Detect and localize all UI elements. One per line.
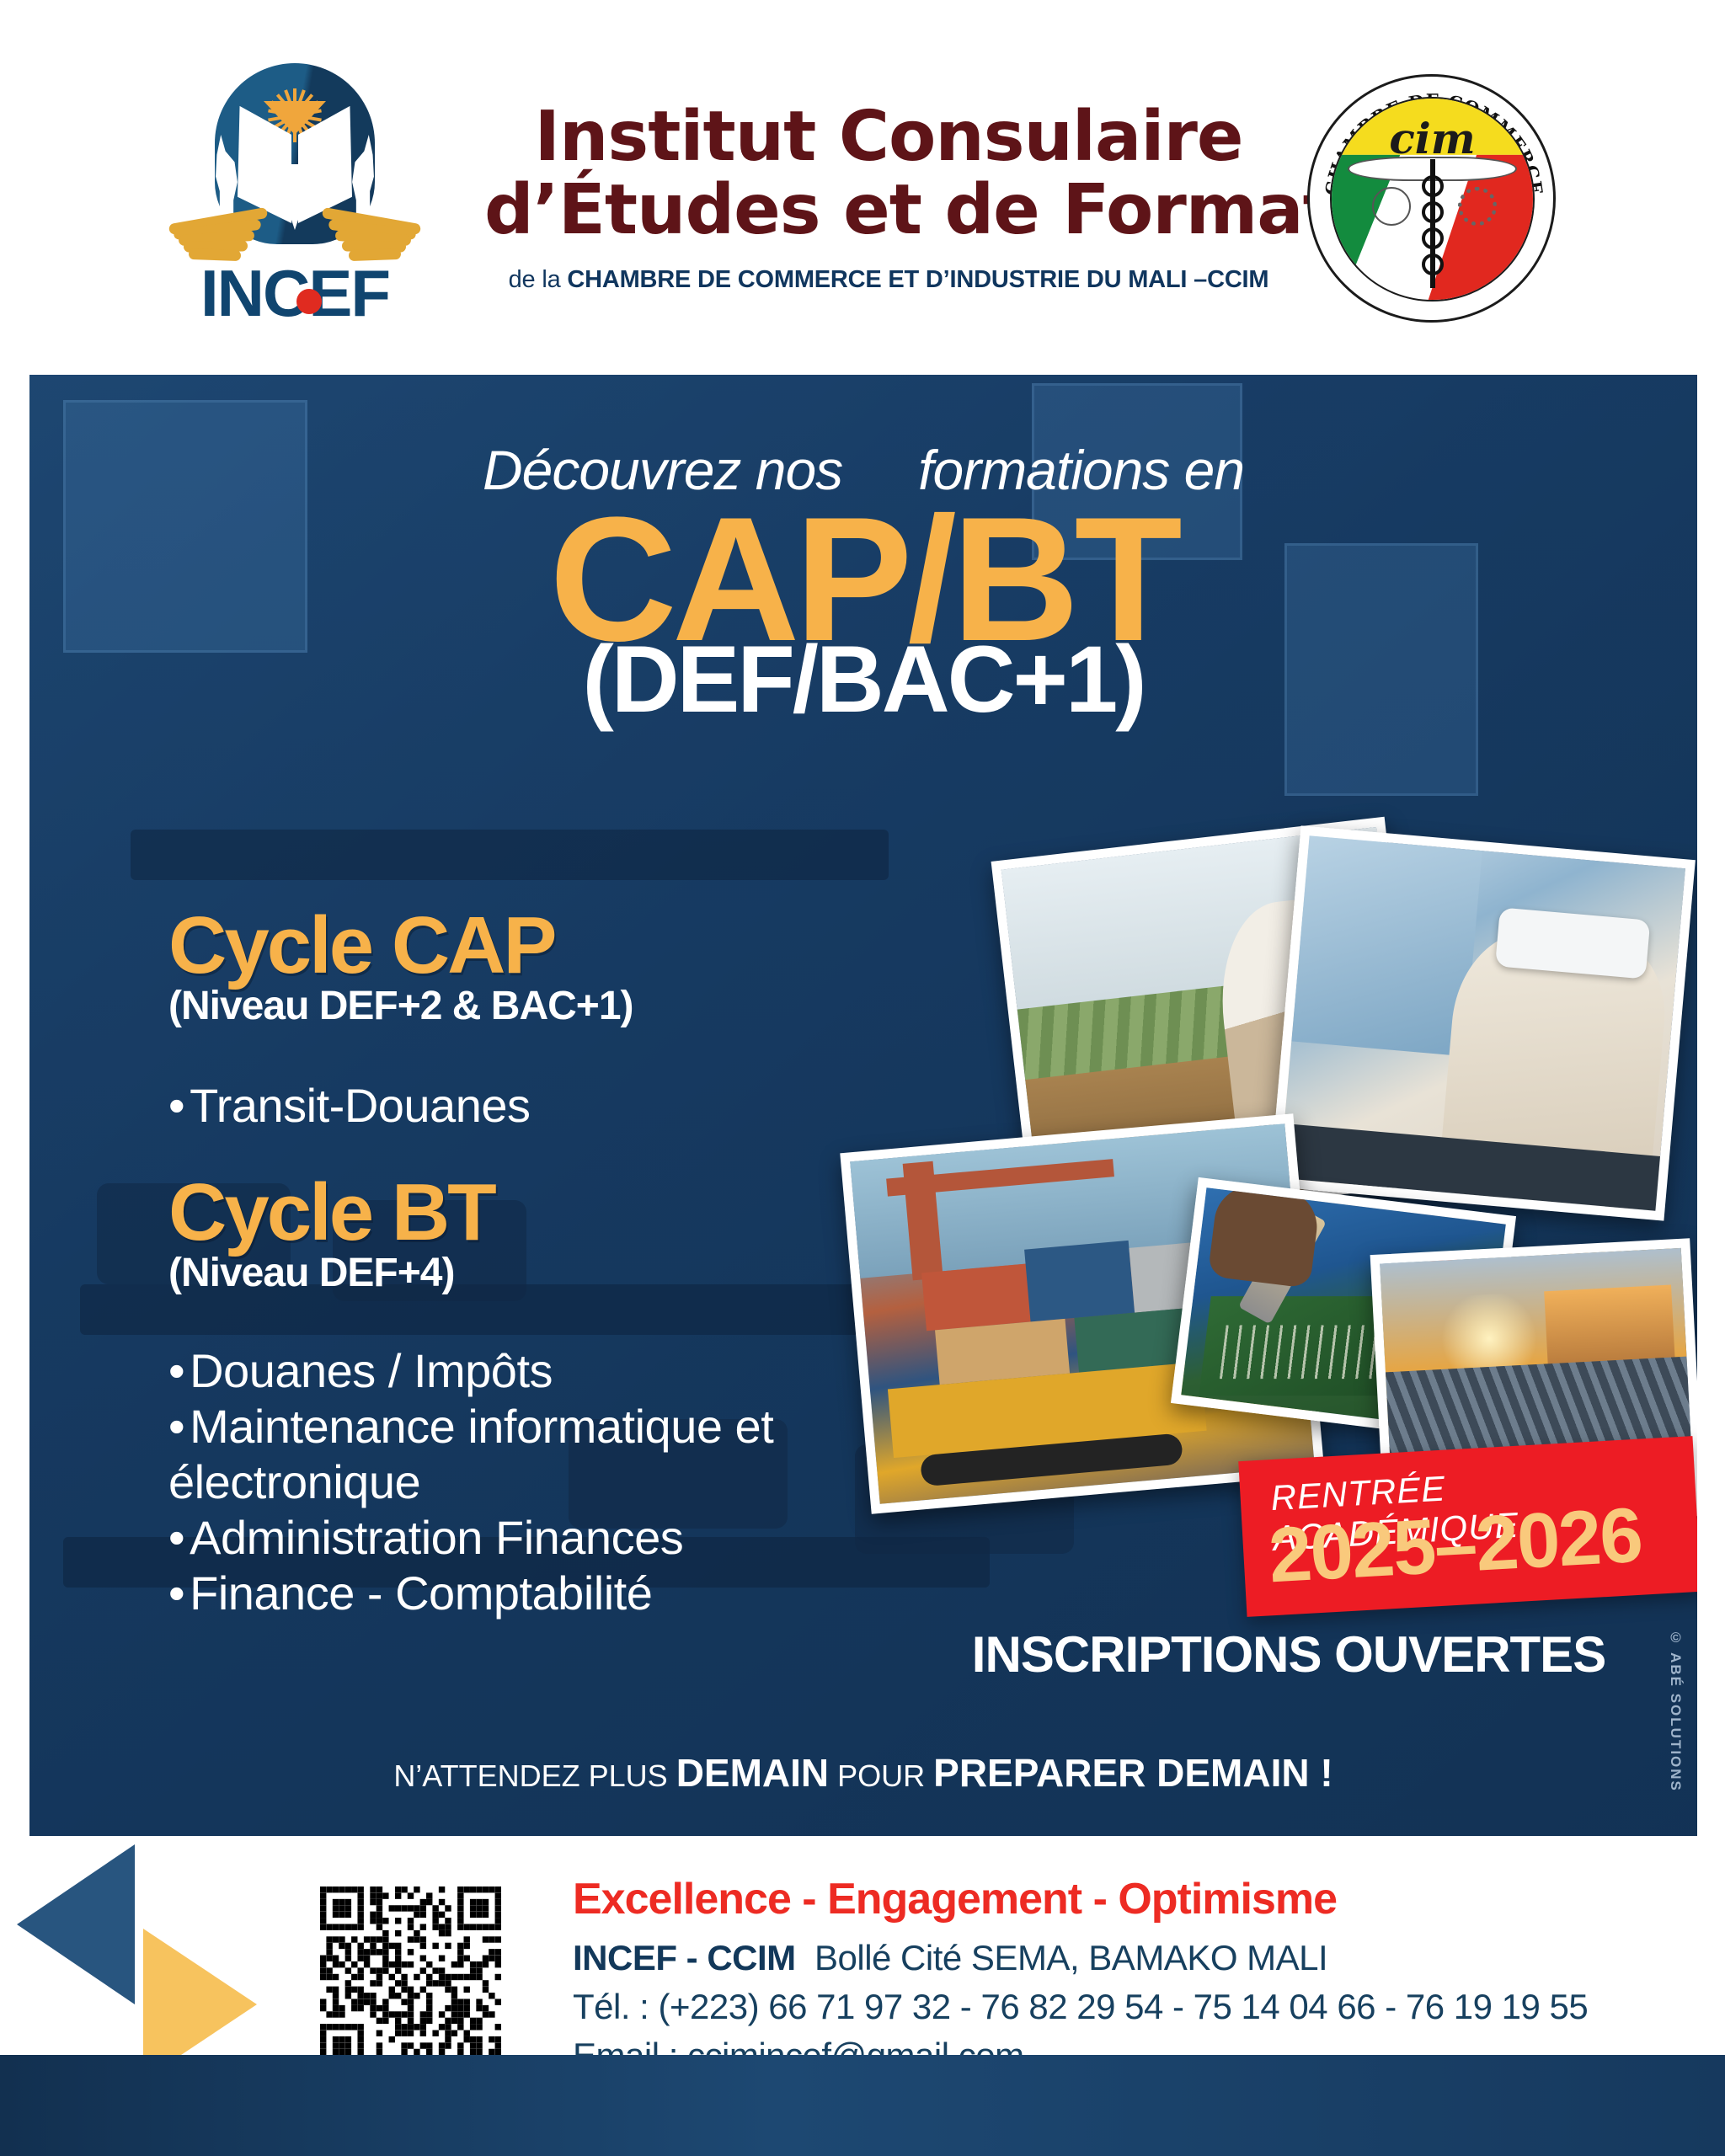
cycle-cap-programs: •Transit-Douanes	[168, 1078, 927, 1134]
subtitle-prefix: de la	[509, 266, 568, 293]
footer-motto: Excellence - Engagement - Optimisme	[573, 1874, 1685, 1924]
qr-code[interactable]	[320, 1886, 501, 2068]
caduceus-bead-4	[1422, 253, 1444, 275]
hero-headline-block: Découvrez nosformations en CAP/BT (DEF/B…	[29, 438, 1697, 734]
cycle-block-bt: Cycle BT (Niveau DEF+4) •Douanes / Impôt…	[168, 1172, 927, 1621]
tagline-part3: POUR	[829, 1758, 933, 1793]
program-item: •Douanes / Impôts	[168, 1343, 927, 1399]
program-label: Finance - Comptabilité	[190, 1566, 652, 1620]
program-item: •Maintenance informatique et électroniqu…	[168, 1399, 927, 1510]
cycle-bt-level: (Niveau DEF+4)	[168, 1250, 927, 1296]
bullet-icon: •	[168, 1566, 184, 1620]
poster-root: INCEF Institut Consulaire d’Études et de…	[0, 0, 1725, 2156]
program-label: Maintenance informatique et électronique	[168, 1400, 773, 1508]
program-label: Douanes / Impôts	[190, 1344, 553, 1397]
subtitle-strong: CHAMBRE DE COMMERCE ET D’INDUSTRIE DU MA…	[567, 266, 1268, 293]
incef-wordmark: INCEF	[168, 255, 421, 332]
program-item: •Transit-Douanes	[168, 1078, 927, 1134]
ccim-seal-inner: cim	[1330, 97, 1535, 302]
hero-tagline: N’ATTENDEZ PLUS DEMAIN POUR PREPARER DEM…	[29, 1750, 1697, 1796]
tagline-part1: N’ATTENDEZ PLUS	[393, 1758, 676, 1793]
cycles-list: Cycle CAP (Niveau DEF+2 & BAC+1) •Transi…	[168, 905, 927, 1621]
bullet-icon: •	[168, 1400, 184, 1453]
bullet-icon: •	[168, 1344, 184, 1397]
bullet-icon: •	[168, 1511, 184, 1564]
hero-panel: Découvrez nosformations en CAP/BT (DEF/B…	[29, 375, 1697, 1836]
container-stack-1	[921, 1263, 1031, 1331]
institute-title-line2: d’Études et de Formation	[484, 174, 1293, 248]
program-item: •Finance - Comptabilité	[168, 1566, 927, 1621]
hand-holding-tool	[1208, 1181, 1322, 1289]
program-item: •Administration Finances	[168, 1510, 927, 1566]
cycle-bt-name: Cycle BT	[168, 1172, 927, 1253]
program-label: Administration Finances	[190, 1511, 683, 1564]
footer-address: Bollé Cité SEMA, BAMAKO MALI	[814, 1938, 1327, 1977]
caduceus-bead-3	[1422, 227, 1444, 249]
institute-title-block: Institut Consulaire d’Études et de Forma…	[484, 101, 1293, 294]
bullet-icon: •	[168, 1079, 184, 1132]
institute-title-line1: Institut Consulaire	[484, 101, 1293, 174]
institute-subtitle: de la CHAMBRE DE COMMERCE ET D’INDUSTRIE…	[484, 266, 1293, 294]
poster-footer: Excellence - Engagement - Optimisme INCE…	[0, 1836, 1725, 2156]
bg-desk-1	[131, 830, 889, 880]
photo-vr-technology	[1269, 825, 1696, 1220]
cycle-block-cap: Cycle CAP (Niveau DEF+2 & BAC+1) •Transi…	[168, 905, 927, 1134]
container-stack-2	[1024, 1241, 1135, 1321]
academic-year-banner: RENTRÉE ACADÉMIQUE 2025–2026	[1238, 1436, 1697, 1617]
incef-emblem-icon	[168, 63, 421, 257]
incef-red-dot	[296, 289, 322, 314]
tagline-part4: PREPARER DEMAIN !	[933, 1751, 1333, 1795]
gear-icon	[1458, 187, 1497, 226]
cycle-cap-level: (Niveau DEF+2 & BAC+1)	[168, 983, 927, 1029]
poster-header: INCEF Institut Consulaire d’Études et de…	[0, 0, 1725, 371]
tagline-part2: DEMAIN	[676, 1751, 829, 1795]
footer-org-name: INCEF - CCIM	[573, 1938, 796, 1977]
scales-of-justice-icon	[1372, 187, 1411, 226]
spacer-cap	[168, 1029, 927, 1073]
photo-collage: RENTRÉE ACADÉMIQUE 2025–2026 INSCRIPTION…	[838, 813, 1689, 1613]
ccim-seal-logo: CHAMBRE DE COMMERCE ET D’INDUSTRIE DU MA…	[1307, 74, 1556, 323]
navy-triangle-decor	[17, 1844, 135, 2004]
cycle-cap-name: Cycle CAP	[168, 905, 927, 986]
caduceus-bead-1	[1422, 175, 1444, 197]
caduceus-bead-2	[1422, 201, 1444, 223]
inscriptions-open-text: INSCRIPTIONS OUVERTES	[863, 1625, 1697, 1684]
footer-phone: Tél. : (+223) 66 71 97 32 - 76 82 29 54 …	[573, 1987, 1685, 2027]
hero-sub-title: (DEF/BAC+1)	[29, 625, 1697, 734]
cycle-bt-programs: •Douanes / Impôts•Maintenance informatiq…	[168, 1343, 927, 1621]
ccim-monogram: cim	[1332, 114, 1533, 163]
program-label: Transit-Douanes	[190, 1079, 530, 1132]
footer-bottom-bar	[0, 2055, 1725, 2156]
footer-org-address: INCEF - CCIM Bollé Cité SEMA, BAMAKO MAL…	[573, 1938, 1685, 1978]
contact-block: Excellence - Engagement - Optimisme INCE…	[573, 1874, 1685, 2076]
incef-logo: INCEF	[168, 63, 430, 324]
